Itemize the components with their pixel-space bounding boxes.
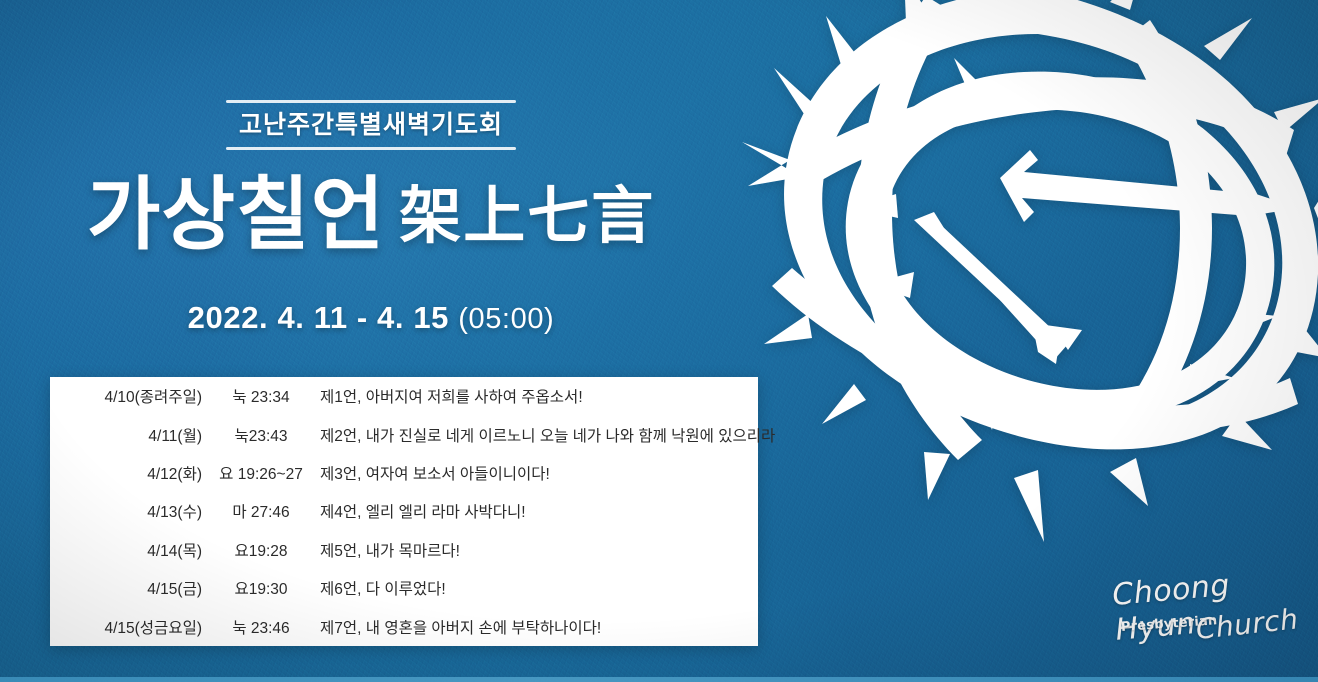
schedule-table-body: 4/10(종려주일) 눅 23:34 제1언, 아버지여 저희를 사하여 주옵소… [50, 377, 758, 646]
row-date: 4/15(성금요일) [50, 608, 202, 646]
row-word: 제2언, 내가 진실로 네게 이르노니 오늘 네가 나와 함께 낙원에 있으리라 [320, 415, 758, 453]
bottom-accent-strip [0, 677, 1318, 682]
row-reference: 눅 23:34 [202, 377, 320, 415]
church-logo: Choong Hyun Presbyterian Church [1108, 578, 1288, 646]
page-title: 가상칠언架上七言 [0, 176, 742, 256]
divider-bottom [226, 147, 516, 150]
table-row: 4/14(목) 요19:28 제5언, 내가 목마르다! [50, 531, 758, 569]
poster-canvas: 고난주간특별새벽기도회 가상칠언架上七言 2022. 4. 11 - 4. 15… [0, 0, 1318, 682]
schedule-panel: 4/10(종려주일) 눅 23:34 제1언, 아버지여 저희를 사하여 주옵소… [50, 377, 758, 646]
row-date: 4/11(월) [50, 415, 202, 453]
event-date-range: 2022. 4. 11 - 4. 15 [188, 300, 449, 335]
table-row: 4/10(종려주일) 눅 23:34 제1언, 아버지여 저희를 사하여 주옵소… [50, 377, 758, 415]
table-row: 4/12(화) 요 19:26~27 제3언, 여자여 보소서 아들이니이다! [50, 454, 758, 492]
row-reference: 요19:30 [202, 569, 320, 607]
table-row: 4/13(수) 마 27:46 제4언, 엘리 엘리 라마 사박다니! [50, 492, 758, 530]
table-row: 4/11(월) 눅23:43 제2언, 내가 진실로 네게 이르노니 오늘 네가… [50, 415, 758, 453]
event-subtitle: 고난주간특별새벽기도회 [0, 112, 742, 140]
row-word: 제6언, 다 이루었다! [320, 569, 758, 607]
row-date: 4/14(목) [50, 531, 202, 569]
row-reference: 요 19:26~27 [202, 454, 320, 492]
divider-top [226, 100, 516, 103]
table-row: 4/15(금) 요19:30 제6언, 다 이루었다! [50, 569, 758, 607]
row-date: 4/12(화) [50, 454, 202, 492]
crown-of-thorns-icon [738, 0, 1318, 582]
row-date: 4/15(금) [50, 569, 202, 607]
headline-block: 고난주간특별새벽기도회 가상칠언架上七言 2022. 4. 11 - 4. 15… [0, 100, 742, 336]
row-word: 제1언, 아버지여 저희를 사하여 주옵소서! [320, 377, 758, 415]
schedule-table: 4/10(종려주일) 눅 23:34 제1언, 아버지여 저희를 사하여 주옵소… [50, 377, 758, 646]
row-reference: 눅23:43 [202, 415, 320, 453]
title-korean: 가상칠언 [87, 172, 385, 260]
row-reference: 마 27:46 [202, 492, 320, 530]
row-word: 제4언, 엘리 엘리 라마 사박다니! [320, 492, 758, 530]
event-dateline: 2022. 4. 11 - 4. 15 (05:00) [0, 300, 742, 336]
row-reference: 요19:28 [202, 531, 320, 569]
event-time: (05:00) [458, 303, 554, 335]
row-word: 제5언, 내가 목마르다! [320, 531, 758, 569]
row-date: 4/10(종려주일) [50, 377, 202, 415]
row-reference: 눅 23:46 [202, 608, 320, 646]
table-row: 4/15(성금요일) 눅 23:46 제7언, 내 영혼을 아버지 손에 부탁하… [50, 608, 758, 646]
title-hanja: 架上七言 [399, 183, 655, 251]
row-word: 제3언, 여자여 보소서 아들이니이다! [320, 454, 758, 492]
row-date: 4/13(수) [50, 492, 202, 530]
row-word: 제7언, 내 영혼을 아버지 손에 부탁하나이다! [320, 608, 758, 646]
